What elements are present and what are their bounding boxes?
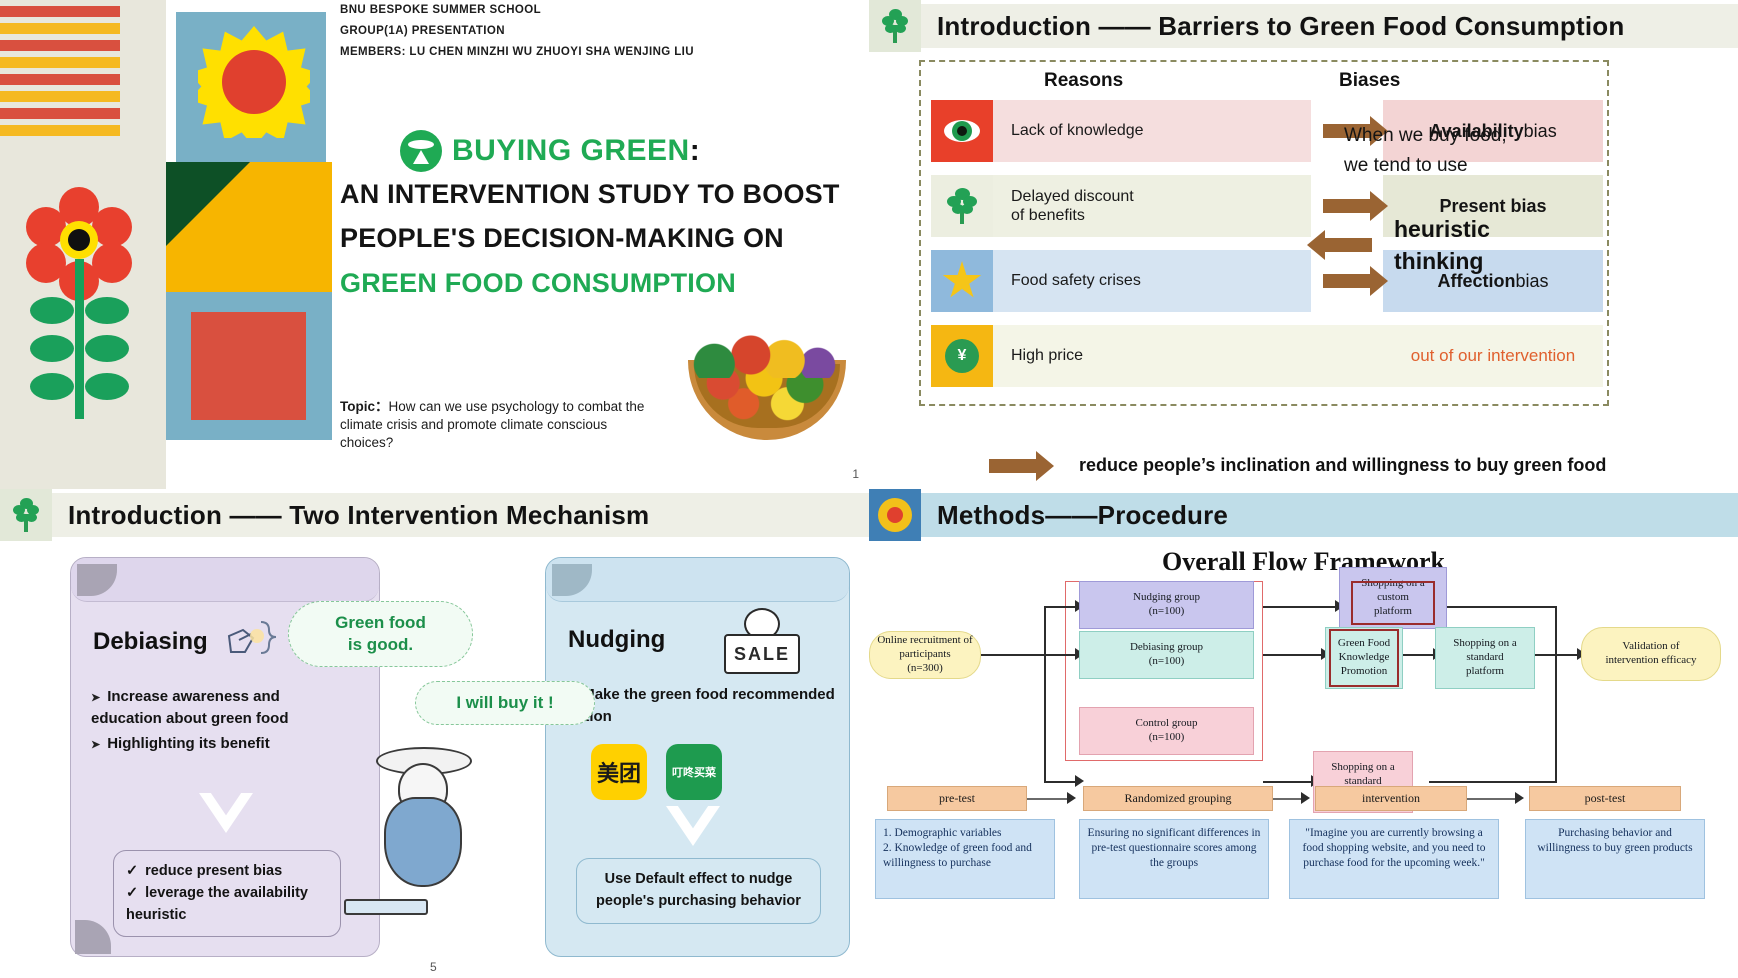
tree-leaf xyxy=(26,513,37,522)
page-title: Methods——Procedure xyxy=(937,500,1228,531)
flower-stem xyxy=(75,259,84,419)
page-title: Introduction —— Two Intervention Mechani… xyxy=(68,500,649,531)
bullet-item: Highlighting its benefit xyxy=(91,733,353,755)
debiasing-bullets: Increase awareness and education about g… xyxy=(91,686,353,757)
desc-intervention: "Imagine you are currently browsing a fo… xyxy=(1289,819,1499,899)
note-line-1: When we buy food, xyxy=(1344,122,1507,150)
leaf xyxy=(85,297,129,324)
sun-core xyxy=(222,50,286,114)
heuristic-line-2: thinking xyxy=(1394,247,1483,277)
tree-icon xyxy=(945,188,979,224)
nudging-bullets: Make the green food recommended option xyxy=(566,684,836,731)
stripe xyxy=(0,108,120,119)
node-validation: Validation of intervention efficacy xyxy=(1581,627,1721,681)
sunflower-icon xyxy=(878,498,912,532)
flow-line xyxy=(1263,606,1337,608)
knowledge-promotion-highlight xyxy=(1329,629,1399,687)
title-line-3: GREEN FOOD CONSUMPTION xyxy=(340,268,736,299)
members-list: MEMBERS: LU CHEN MINZHI WU ZHUOYI SHA WE… xyxy=(340,46,860,58)
stripe xyxy=(0,74,120,85)
arrow-head xyxy=(1301,792,1310,804)
red-square xyxy=(191,312,306,420)
flow-line xyxy=(1555,606,1557,781)
slide-header: Introduction —— Barriers to Green Food C… xyxy=(869,0,1738,52)
flow-line xyxy=(1429,781,1557,783)
presentation-meta: BNU BESPOKE SUMMER SCHOOL GROUP(1A) PRES… xyxy=(340,4,860,67)
school-name: BNU BESPOKE SUMMER SCHOOL xyxy=(340,4,860,16)
node-standard-platform-1: Shopping on a standard platform xyxy=(1435,627,1535,689)
flow-title: Overall Flow Framework xyxy=(869,547,1738,577)
stripe xyxy=(0,57,120,68)
outcome-item: leverage the availability heuristic xyxy=(126,883,328,927)
stage-intervention: intervention xyxy=(1315,786,1467,811)
intervention-note: out of our intervention xyxy=(1383,325,1603,387)
bullet-item: Increase awareness and education about g… xyxy=(91,686,353,730)
nudging-panel: Nudging SALE Make the green food recomme… xyxy=(545,557,850,957)
down-chevron-icon xyxy=(666,806,720,846)
tree-icon xyxy=(11,498,41,532)
reason-text: High price xyxy=(993,325,1311,387)
petal xyxy=(92,207,132,247)
stage-pre-test: pre-test xyxy=(887,786,1027,811)
nudging-outcome: Use Default effect to nudge people's pur… xyxy=(576,858,821,924)
desc-post-test: Purchasing behavior and willingness to b… xyxy=(1525,819,1705,899)
slide-header: Methods——Procedure xyxy=(869,489,1738,541)
topic-block: Topic：How can we use psychology to comba… xyxy=(340,398,650,453)
group-name: GROUP(1A) PRESENTATION xyxy=(340,25,860,37)
note-line-2: we tend to use xyxy=(1344,152,1468,180)
outcome-item: reduce present bias xyxy=(126,861,328,883)
barrier-row: Delayed discount of benefits Present bia… xyxy=(931,175,1603,237)
stripe xyxy=(0,91,120,102)
bubble-line-1: Green food xyxy=(335,613,426,632)
header-icon-container xyxy=(869,0,921,52)
desc-randomized-grouping: Ensuring no significant differences in p… xyxy=(1079,819,1269,899)
reason-text: Food safety crises xyxy=(993,250,1311,312)
row-icon: ¥ xyxy=(931,325,993,387)
slide-mechanisms: Introduction —— Two Intervention Mechani… xyxy=(0,489,869,978)
flow-line xyxy=(1273,798,1301,800)
flow-line xyxy=(981,654,1045,656)
desc-pre-test: 1. Demographic variables 2. Knowledge of… xyxy=(875,819,1055,899)
node-control-group: Control group (n=100) xyxy=(1079,707,1254,755)
leaf xyxy=(30,297,74,324)
hand-pen-icon xyxy=(223,618,279,668)
bullet-item: Make the green food recommended option xyxy=(566,684,836,728)
vegetables xyxy=(690,332,842,378)
money-icon: ¥ xyxy=(945,339,979,373)
flow-line xyxy=(1044,654,1078,656)
green-triangle xyxy=(166,162,250,246)
star-icon xyxy=(942,261,982,301)
stripe xyxy=(0,125,120,136)
flow-line xyxy=(1447,606,1557,608)
header-icon-container xyxy=(869,489,921,541)
header-bar: Introduction —— Barriers to Green Food C… xyxy=(921,4,1738,48)
tree-icon xyxy=(880,9,910,43)
leaf xyxy=(85,373,129,400)
tree-leaf xyxy=(895,24,906,33)
arrow-right-icon xyxy=(1311,175,1383,237)
eye-icon xyxy=(944,120,980,142)
slide-procedure: Methods——Procedure Overall Flow Framewor… xyxy=(869,489,1738,978)
stage-randomized-grouping: Randomized grouping xyxy=(1083,786,1273,811)
flow-line xyxy=(1044,606,1046,781)
slide-deck: BNU BESPOKE SUMMER SCHOOL GROUP(1A) PRES… xyxy=(0,0,1738,978)
arrow-head xyxy=(1515,792,1524,804)
node-debiasing-group: Debiasing group (n=100) xyxy=(1079,631,1254,679)
node-recruitment: Online recruitment of participants (n=30… xyxy=(869,631,981,679)
flow-line xyxy=(1467,798,1515,800)
stripe xyxy=(0,6,120,17)
barrier-row: ¥ High price out of our intervention xyxy=(931,325,1603,387)
debiasing-outcomes: reduce present bias leverage the availab… xyxy=(113,850,341,937)
arrow-left-icon xyxy=(1324,238,1372,252)
thought-bubble-green-food: Green food is good. xyxy=(288,601,473,667)
row-icon xyxy=(931,250,993,312)
leaf xyxy=(30,335,74,362)
page-title: Introduction —— Barriers to Green Food C… xyxy=(937,11,1624,42)
reason-text: Lack of knowledge xyxy=(993,100,1311,162)
bubble-line-2: is good. xyxy=(348,635,413,654)
flower-eye xyxy=(68,229,90,251)
yellow-triangle-block xyxy=(166,162,332,292)
leaf xyxy=(30,373,74,400)
flower-graphic xyxy=(12,185,157,435)
laptop xyxy=(344,899,428,915)
red-square-block xyxy=(166,292,332,440)
title-content: BNU BESPOKE SUMMER SCHOOL GROUP(1A) PRES… xyxy=(332,0,869,489)
slide-header: Introduction —— Two Intervention Mechani… xyxy=(0,489,869,541)
page-number: 1 xyxy=(852,467,859,481)
conclusion-row: reduce people’s inclination and willingn… xyxy=(989,455,1606,476)
panel-scroll-top xyxy=(71,558,379,602)
sale-person-icon: SALE xyxy=(718,608,806,680)
slide-title: BNU BESPOKE SUMMER SCHOOL GROUP(1A) PRES… xyxy=(0,0,869,489)
conclusion-text: reduce people’s inclination and willingn… xyxy=(1079,455,1606,476)
dingdong-app-icon: 叮咚买菜 xyxy=(666,744,722,800)
leaf xyxy=(85,335,129,362)
column-header-biases: Biases xyxy=(1339,70,1400,92)
flow-line xyxy=(1027,798,1069,800)
slide-barriers: Introduction —— Barriers to Green Food C… xyxy=(869,0,1738,489)
title-line-1: AN INTERVENTION STUDY TO BOOST xyxy=(340,179,840,210)
header-bar: Introduction —— Two Intervention Mechani… xyxy=(52,493,869,537)
thought-bubble-buy-it: I will buy it ! xyxy=(415,681,595,725)
hair xyxy=(384,797,462,887)
flow-line xyxy=(1044,781,1078,783)
flow-line xyxy=(1263,654,1323,656)
barrier-row: Food safety crises Affection bias xyxy=(931,250,1603,312)
meituan-app-icon: 美团 xyxy=(591,744,647,800)
header-icon-container xyxy=(0,489,52,541)
column-header-reasons: Reasons xyxy=(1044,70,1123,92)
scroll-curl-bottom xyxy=(75,920,111,954)
down-chevron-icon xyxy=(199,793,253,833)
vegetable-basket-image xyxy=(680,330,855,442)
flow-line xyxy=(1044,606,1078,608)
sun-graphic xyxy=(176,12,326,162)
flow-line xyxy=(1403,654,1435,656)
person-illustration xyxy=(330,739,530,969)
flow-line xyxy=(1263,781,1313,783)
arrow-right-icon xyxy=(989,459,1037,473)
arrow-placeholder xyxy=(1311,325,1383,387)
row-icon xyxy=(931,175,993,237)
stage-post-test: post-test xyxy=(1529,786,1681,811)
custom-platform-highlight xyxy=(1351,581,1435,625)
flow-line xyxy=(1535,654,1579,656)
decorative-artwork xyxy=(0,0,332,489)
reason-text: Delayed discount of benefits xyxy=(993,175,1311,237)
title-line-2: PEOPLE'S DECISION-MAKING ON xyxy=(340,223,784,254)
green-leaf-logo-icon xyxy=(400,130,442,172)
arrow-head xyxy=(1067,792,1076,804)
row-icon xyxy=(931,100,993,162)
page-number: 5 xyxy=(430,960,437,974)
stripe xyxy=(0,40,120,51)
heuristic-line-1: heuristic xyxy=(1394,215,1490,245)
header-bar: Methods——Procedure xyxy=(921,493,1738,537)
brand-row: BUYING GREEN: xyxy=(400,130,700,172)
node-nudging-group: Nudging group (n=100) xyxy=(1079,581,1254,629)
stripe xyxy=(0,23,120,34)
debiasing-title: Debiasing xyxy=(93,628,208,656)
nudging-title: Nudging xyxy=(568,626,665,654)
topic-label: Topic： xyxy=(340,399,389,414)
title-brand: BUYING GREEN: xyxy=(452,134,700,168)
sale-sign: SALE xyxy=(724,634,800,674)
